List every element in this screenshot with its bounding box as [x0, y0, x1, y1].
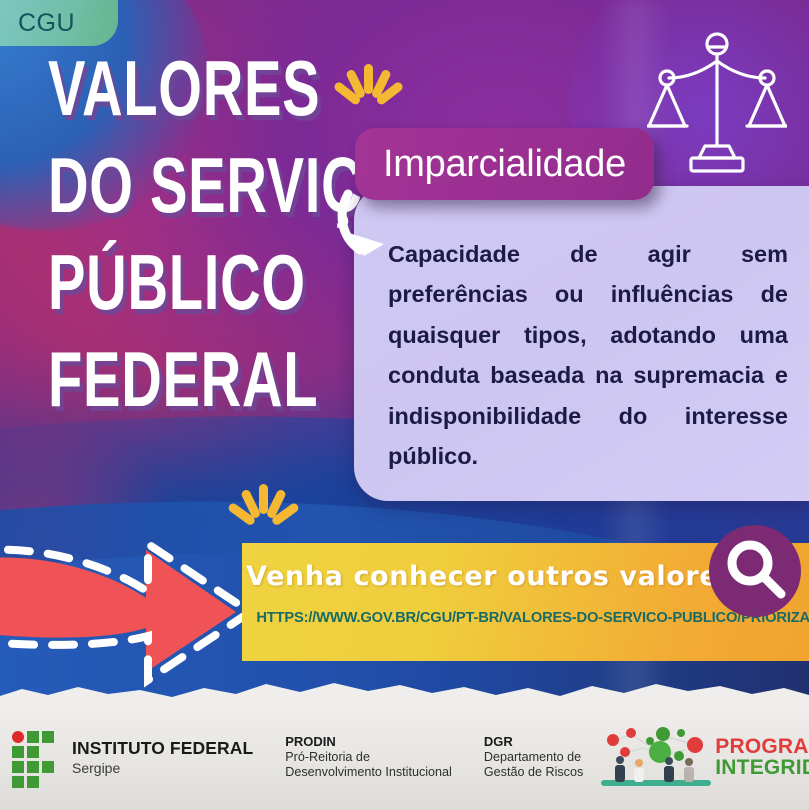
balance-scales-icon — [647, 28, 787, 176]
dgr-acronym: DGR — [484, 734, 583, 750]
program-line-2: INTEGRIDADE — [715, 757, 809, 778]
prodin-line-1: Pró-Reitoria de — [285, 750, 452, 765]
page-title: VALORES DO SERVIÇO PÚBLICO FEDERAL — [48, 48, 378, 436]
integrity-people-network-icon — [601, 724, 713, 790]
institute-name: INSTITUTO FEDERAL — [72, 738, 253, 759]
department-dgr: DGR Departamento de Gestão de Riscos — [484, 734, 583, 781]
institute-campus: Sergipe — [72, 760, 253, 776]
value-description-text: Capacidade de agir sem preferências ou i… — [388, 234, 788, 476]
magnifying-glass-icon — [709, 525, 801, 617]
poster-canvas: CGU VALORES DO SERVIÇO PÚBLICO FEDERAL — [0, 0, 809, 810]
dgr-line-1: Departamento de — [484, 750, 583, 765]
cgu-badge-label: CGU — [18, 9, 75, 38]
programa-integridade-logo: PROGRAMA DE INTEGRIDADE — [601, 724, 809, 790]
curved-arrow-icon — [334, 186, 414, 278]
cgu-badge: CGU — [0, 0, 118, 46]
footer-bar: INSTITUTO FEDERAL Sergipe PRODIN Pró-Rei… — [0, 704, 809, 810]
title-line-1: VALORES — [48, 48, 286, 129]
department-prodin: PRODIN Pró-Reitoria de Desenvolvimento I… — [285, 734, 452, 781]
big-red-arrow-icon — [0, 520, 278, 690]
cta-banner[interactable]: Venha conhecer outros valores HTTPS://WW… — [242, 543, 809, 661]
value-description-panel: Capacidade de agir sem preferências ou i… — [354, 186, 809, 501]
instituto-federal-logo: INSTITUTO FEDERAL Sergipe — [6, 731, 253, 783]
title-line-4: FEDERAL — [48, 339, 286, 420]
program-line-1: PROGRAMA DE — [715, 736, 809, 757]
title-line-2: DO SERVIÇO — [48, 145, 286, 226]
value-name-label: Imparcialidade — [383, 143, 626, 186]
prodin-acronym: PRODIN — [285, 734, 452, 750]
ifs-logo-grid — [12, 731, 64, 783]
prodin-line-2: Desenvolvimento Institucional — [285, 765, 452, 780]
dgr-line-2: Gestão de Riscos — [484, 765, 583, 780]
title-line-3: PÚBLICO — [48, 242, 286, 323]
